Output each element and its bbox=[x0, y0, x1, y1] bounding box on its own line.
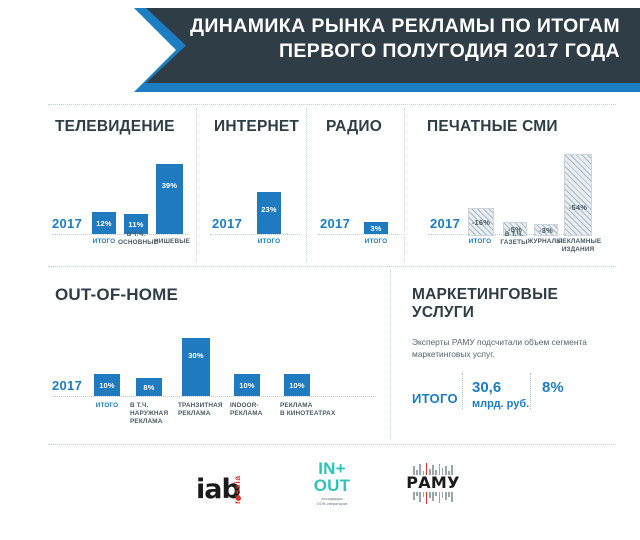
bar-value: 39% bbox=[162, 181, 178, 190]
bar-value: 10% bbox=[289, 381, 305, 390]
section-title-marketing: МАРКЕТИНГОВЫЕ УСЛУГИ bbox=[412, 286, 622, 322]
bar-label-ooh-indoor: INDOOR- РЕКЛАМА bbox=[230, 402, 272, 418]
chart-radio: 2017 3% ИТОГО bbox=[316, 150, 404, 250]
bar-radio-total: 3% bbox=[364, 222, 388, 234]
bar-label-ooh-cinema: РЕКЛАМА В КИНОТЕАТРАХ bbox=[280, 402, 340, 418]
bar-value: 12% bbox=[96, 219, 112, 228]
marketing-growth: 8% bbox=[542, 379, 564, 396]
section-television: ТЕЛЕВИДЕНИЕ bbox=[55, 118, 175, 136]
marketing-separator-1 bbox=[462, 373, 463, 409]
section-print: ПЕЧАТНЫЕ СМИ bbox=[427, 118, 558, 136]
bar-ooh-total: 10% bbox=[94, 374, 120, 396]
bar-value: -3% bbox=[539, 226, 553, 235]
bar-value: 3% bbox=[370, 224, 381, 233]
bar-value: 11% bbox=[128, 220, 143, 229]
bar-label-internet-total: ИТОГО bbox=[251, 238, 287, 246]
section-title-radio: РАДИО bbox=[326, 118, 382, 136]
section-title-ooh: OUT-OF-HOME bbox=[55, 286, 178, 304]
bar-value: -16% bbox=[472, 218, 490, 227]
chart-ooh: 2017 10% 8% 30% 10% 10% ИТОГО В Т.Ч. НАР… bbox=[48, 318, 388, 433]
chart-print: 2017 -16% -5% -3% -54% ИТОГО В Т.Ч. ГАЗЕ… bbox=[414, 150, 629, 255]
bar-ooh-outdoor: 8% bbox=[136, 378, 162, 396]
section-marketing: МАРКЕТИНГОВЫЕ УСЛУГИ bbox=[412, 286, 622, 322]
page-title-line1: ДИНАМИКА РЫНКА РЕКЛАМЫ ПО ИТОГАМ bbox=[170, 14, 620, 39]
infographic-page: ДИНАМИКА РЫНКА РЕКЛАМЫ ПО ИТОГАМ ПЕРВОГО… bbox=[0, 0, 640, 540]
section-internet: ИНТЕРНЕТ bbox=[214, 118, 299, 136]
marketing-amount: 30,6 млрд. руб. bbox=[472, 379, 529, 413]
divider-v4 bbox=[390, 270, 391, 440]
ramu-bars-bottom-icon bbox=[404, 492, 462, 505]
page-title-line2: ПЕРВОГО ПОЛУГОДИЯ 2017 ГОДА bbox=[170, 39, 620, 64]
year-label: 2017 bbox=[52, 378, 82, 393]
section-title-television: ТЕЛЕВИДЕНИЕ bbox=[55, 118, 175, 136]
inout-subtext: Ассоциация ООН-операторов bbox=[304, 497, 360, 506]
page-title: ДИНАМИКА РЫНКА РЕКЛАМЫ ПО ИТОГАМ ПЕРВОГО… bbox=[170, 14, 620, 64]
bar-label-tv-main: В Т.Ч. ОСНОВНЫЕ bbox=[118, 231, 154, 247]
inout-line2: OUT bbox=[304, 477, 360, 494]
logo-ramu: РАМУ bbox=[404, 462, 462, 505]
bar-value: 10% bbox=[99, 381, 115, 390]
logo-iab-russia: iab russia bbox=[196, 476, 266, 503]
inout-line1: IN+ bbox=[304, 460, 360, 477]
iab-russia-text: russia bbox=[232, 475, 242, 504]
bar-label-ooh-transit: ТРАНЗИТНАЯ РЕКЛАМА bbox=[178, 402, 226, 418]
year-label: 2017 bbox=[430, 216, 460, 231]
bar-print-total: -16% bbox=[468, 208, 494, 236]
header-banner: ДИНАМИКА РЫНКА РЕКЛАМЫ ПО ИТОГАМ ПЕРВОГО… bbox=[0, 0, 640, 100]
year-label: 2017 bbox=[212, 216, 242, 231]
bar-value: 10% bbox=[239, 381, 255, 390]
bar-label-print-total: ИТОГО bbox=[462, 238, 498, 246]
bar-ooh-indoor: 10% bbox=[234, 374, 260, 396]
chart-internet: 2017 23% ИТОГО bbox=[206, 150, 301, 250]
bar-ooh-transit: 30% bbox=[182, 338, 210, 396]
inout-subtext-line2: ООН-операторов bbox=[304, 502, 360, 507]
year-label: 2017 bbox=[52, 216, 82, 231]
chart-television: 2017 12% 11% 39% ИТОГО В Т.Ч. ОСНОВНЫЕ Н… bbox=[48, 150, 193, 250]
divider-v3 bbox=[404, 108, 405, 262]
section-radio: РАДИО bbox=[326, 118, 382, 136]
divider-bottom bbox=[48, 444, 616, 445]
bar-value: 8% bbox=[143, 383, 154, 392]
ramu-wordmark: РАМУ bbox=[404, 475, 462, 491]
axis-line bbox=[210, 234, 300, 235]
axis-line bbox=[318, 234, 402, 235]
section-ooh: OUT-OF-HOME bbox=[55, 286, 178, 304]
bar-print-ad-editions: -54% bbox=[564, 154, 592, 236]
bar-label-ooh-outdoor: В Т.Ч. НАРУЖНАЯ РЕКЛАМА bbox=[130, 402, 174, 426]
bar-label-ooh-total: ИТОГО bbox=[88, 402, 126, 410]
bar-tv-total: 12% bbox=[92, 212, 116, 234]
marketing-separator-2 bbox=[530, 373, 531, 409]
divider-middle bbox=[48, 266, 616, 267]
marketing-amount-unit: млрд. руб. bbox=[472, 396, 529, 413]
divider-v2 bbox=[306, 108, 307, 262]
section-title-internet: ИНТЕРНЕТ bbox=[214, 118, 299, 136]
bar-print-magazines: -3% bbox=[534, 224, 558, 236]
divider-top bbox=[48, 104, 616, 105]
logo-row: iab russia IN+ OUT Ассоциация ООН-операт… bbox=[0, 452, 640, 532]
bar-ooh-cinema: 10% bbox=[284, 374, 310, 396]
year-label: 2017 bbox=[320, 216, 350, 231]
inout-wordmark: IN+ OUT bbox=[304, 460, 360, 494]
marketing-total-label: ИТОГО bbox=[412, 391, 458, 406]
bar-label-radio-total: ИТОГО bbox=[358, 238, 394, 246]
bar-label-print-ad-editions: РЕКЛАМНЫЕ ИЗДАНИЯ bbox=[558, 238, 598, 254]
marketing-amount-value: 30,6 bbox=[472, 379, 501, 396]
bar-label-tv-niche: НИШЕВЫЕ bbox=[152, 238, 192, 246]
axis-line bbox=[52, 396, 376, 397]
divider-v1 bbox=[196, 108, 197, 262]
section-title-print: ПЕЧАТНЫЕ СМИ bbox=[427, 118, 558, 136]
bar-value: 23% bbox=[261, 205, 277, 214]
bar-internet-total: 23% bbox=[257, 192, 281, 234]
bar-value: 30% bbox=[188, 351, 204, 360]
bar-label-tv-total: ИТОГО bbox=[86, 238, 122, 246]
logo-in-out: IN+ OUT Ассоциация ООН-операторов bbox=[304, 460, 360, 506]
bar-tv-niche: 39% bbox=[156, 164, 183, 234]
marketing-description: Эксперты РАМУ подсчитали объем сегмента … bbox=[412, 336, 597, 360]
bar-value: -54% bbox=[569, 203, 587, 212]
